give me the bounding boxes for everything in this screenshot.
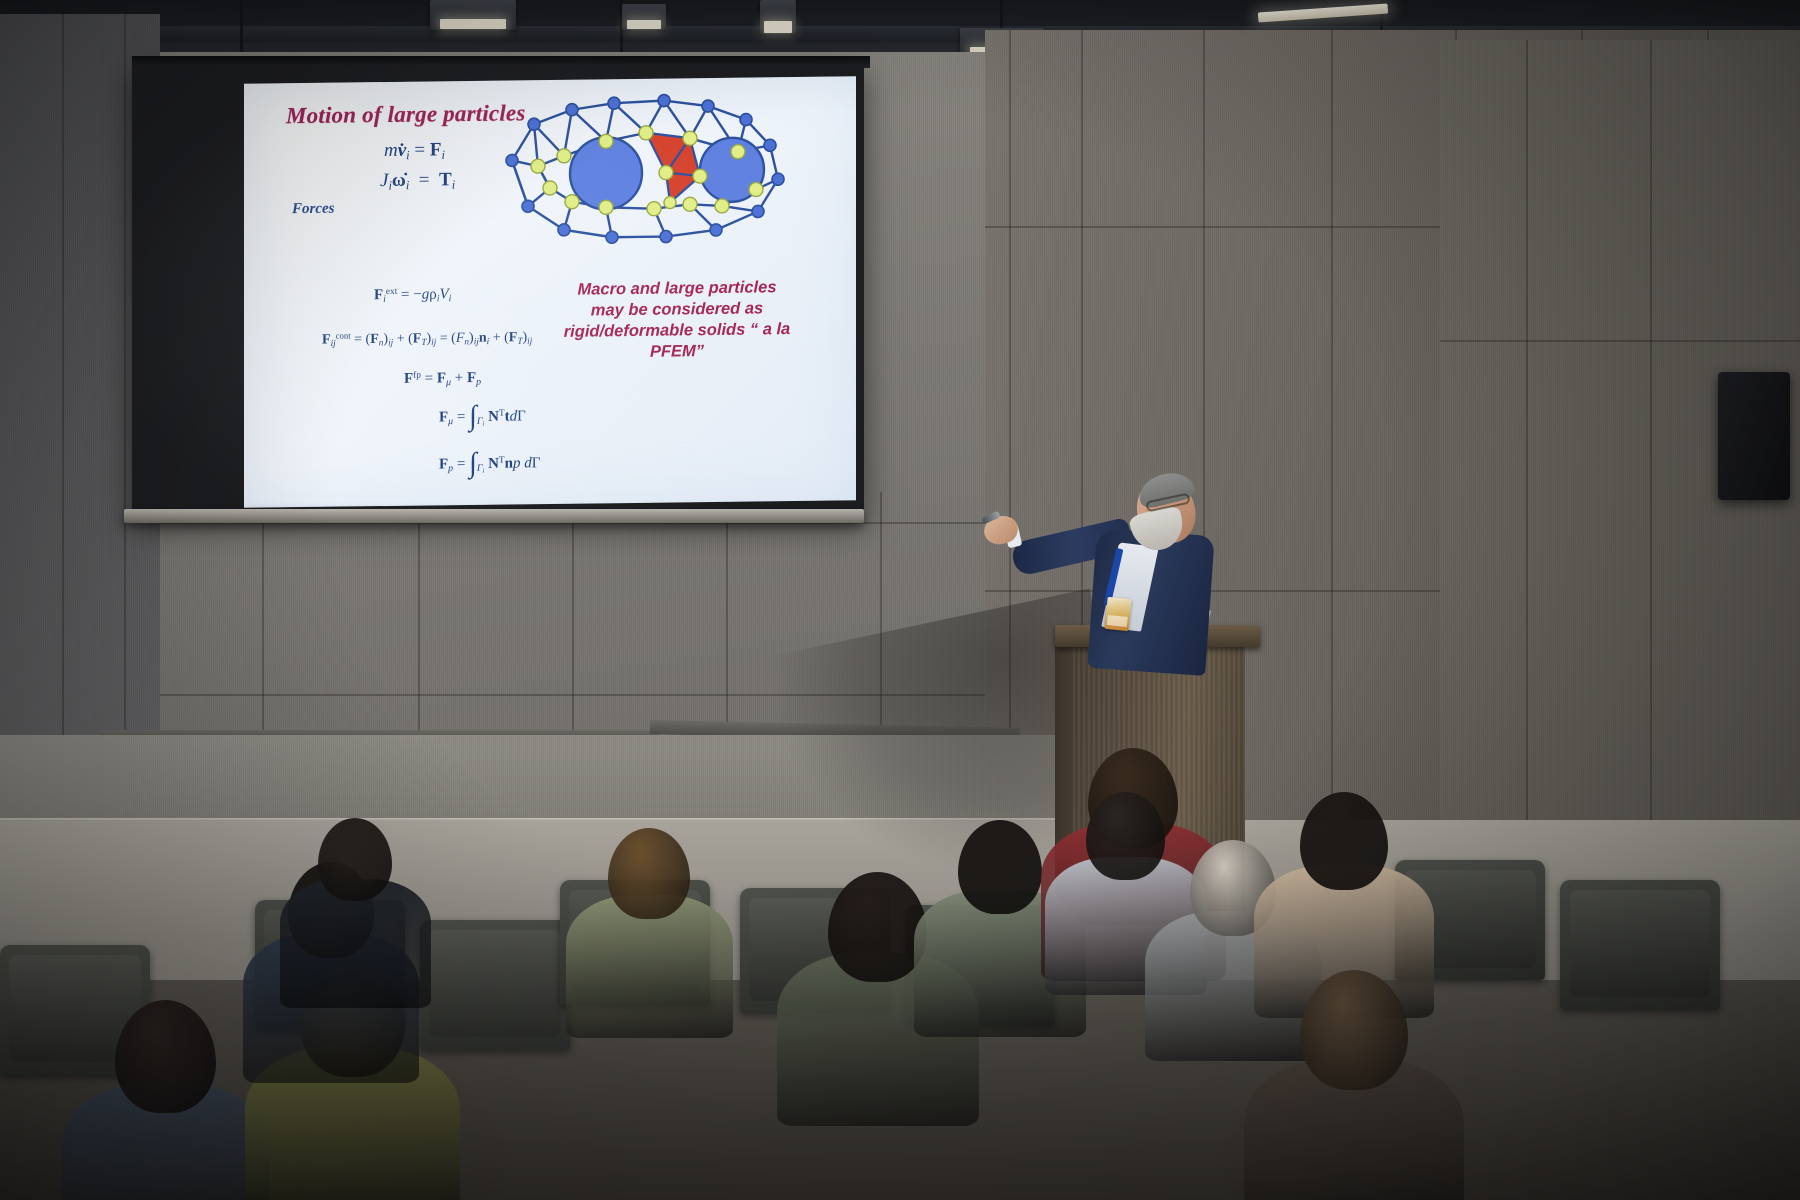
- audience-member-head: [1300, 792, 1388, 890]
- particle-mesh-diagram: [494, 79, 794, 263]
- equation-viscous-force: Fμ = ∫Γi NTtdΓ: [439, 408, 526, 428]
- audience-member-head: [828, 872, 927, 982]
- audience-member: [318, 818, 469, 1030]
- lecture-hall-scene: Motion of large particles mv̇i = Fi Jiω̇…: [0, 0, 1800, 1200]
- ceiling-light-2: [622, 4, 666, 30]
- audience-member-head: [115, 1000, 216, 1113]
- presenter: [960, 470, 1230, 670]
- conference-badge: [1104, 597, 1131, 631]
- equation-external-force: Fiext = −gρiVi: [374, 286, 451, 305]
- equation-pressure-force: Fp = ∫Γi NTnp dΓ: [439, 455, 540, 475]
- audience-member-head: [958, 820, 1042, 914]
- equation-linear-momentum: mv̇i = Fi: [384, 139, 445, 163]
- auditorium-seat: [1560, 880, 1720, 1010]
- audience-member-head: [1300, 970, 1408, 1090]
- audience-member: [608, 828, 775, 1062]
- slide-note-red: Macro and large particles may be conside…: [562, 277, 792, 364]
- equation-angular-momentum: Jiω̇i = Ti: [380, 169, 455, 193]
- screen-bottom-bar: [124, 509, 864, 523]
- projection-screen: Motion of large particles mv̇i = Fi Jiω̇…: [132, 64, 864, 516]
- equation-fluid-particle-force: Ffp = Fμ + Fp: [404, 370, 481, 389]
- ceiling-light-3: [760, 0, 796, 34]
- equation-contact-force: Fijcont = (Fn)ij + (FT)ij = (Fn)ijni + (…: [322, 328, 532, 348]
- wall-speaker: [1718, 372, 1790, 500]
- slide-title: Motion of large particles: [286, 100, 525, 129]
- forces-label: Forces: [292, 201, 335, 219]
- ceiling-light-1: [430, 0, 516, 30]
- slide: Motion of large particles mv̇i = Fi Jiω̇…: [244, 76, 856, 507]
- audience-member: [1300, 970, 1520, 1200]
- audience-member-head: [1086, 792, 1165, 880]
- audience-member-head: [608, 828, 690, 919]
- audience-member-head: [318, 818, 392, 901]
